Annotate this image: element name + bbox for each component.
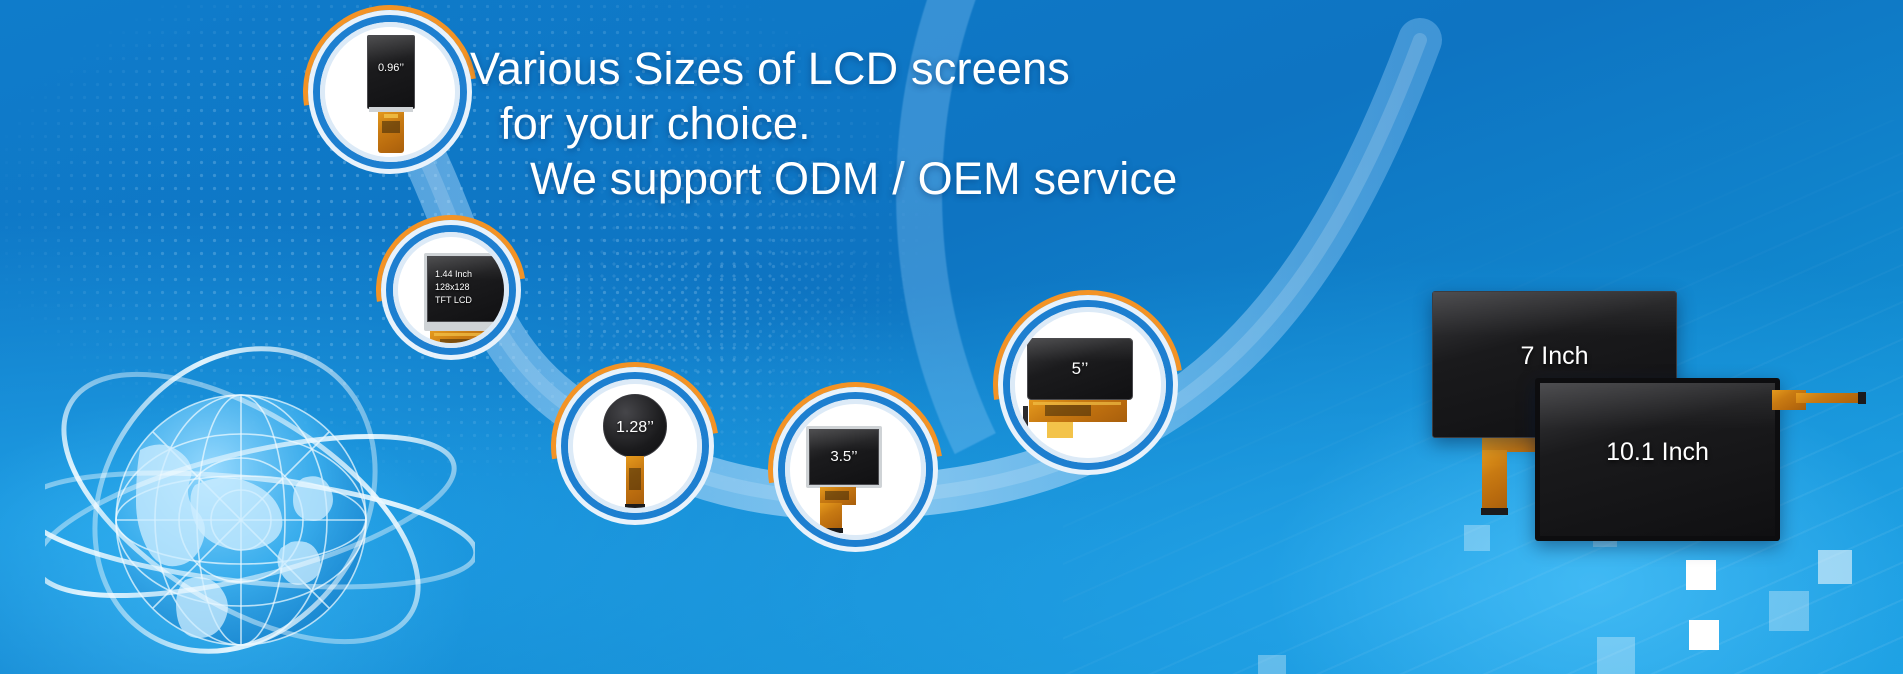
badge-144-face: 1.44 Inch 128x128 TFT LCD xyxy=(398,237,504,343)
module-35-chip xyxy=(825,491,849,500)
badge-35[interactable]: 3.5’’ xyxy=(768,382,943,557)
badge-096-face: 0.96’’ xyxy=(325,27,455,157)
headline-line-2: for your choice. xyxy=(470,97,1200,152)
module-5-contacts xyxy=(1033,402,1121,405)
module-144-contacts xyxy=(434,333,486,336)
panel-101inch-cable-tip xyxy=(1858,392,1866,404)
module-5-touch-tail xyxy=(1023,406,1028,446)
module-096-flex-cable xyxy=(378,112,404,153)
badge-144[interactable]: 1.44 Inch 128x128 TFT LCD xyxy=(376,215,526,365)
decor-square-3 xyxy=(1818,550,1852,584)
module-35-flex-tail xyxy=(820,503,842,531)
decor-square-6 xyxy=(1689,620,1719,650)
module-096: 0.96’’ xyxy=(367,35,415,153)
badge-144-label-line1: 1.44 Inch xyxy=(435,269,504,279)
module-5-flex-tail xyxy=(1047,422,1073,438)
module-5-panel: 5’’ xyxy=(1027,338,1133,400)
module-35-panel: 3.5’’ xyxy=(809,429,879,485)
badge-096-label: 0.96’’ xyxy=(368,62,414,74)
decor-square-2 xyxy=(1686,560,1716,590)
module-144: 1.44 Inch 128x128 TFT LCD xyxy=(424,253,504,343)
panel-101inch-label: 10.1 Inch xyxy=(1540,438,1775,467)
headline-line-1: Various Sizes of LCD screens xyxy=(470,42,1200,97)
decor-square-9 xyxy=(1258,655,1286,674)
module-096-chip xyxy=(382,121,400,133)
module-144-flex-cable xyxy=(430,331,492,343)
badge-096[interactable]: 0.96’’ xyxy=(303,5,477,179)
badge-144-label-line3: TFT LCD xyxy=(435,295,504,305)
module-128-flex-cable xyxy=(626,456,644,506)
module-144-chip xyxy=(440,339,476,343)
panel-101inch-screen: 10.1 Inch xyxy=(1535,378,1780,541)
panel-101inch-flex-tail xyxy=(1796,393,1864,403)
panel-7inch-label: 7 Inch xyxy=(1433,342,1676,371)
module-096-glass-highlight xyxy=(368,36,414,63)
badge-128[interactable]: 1.28’’ xyxy=(551,362,719,530)
globe-network-icon xyxy=(45,330,475,674)
decor-square-7 xyxy=(1464,525,1490,551)
module-128-chip xyxy=(629,468,641,490)
badge-5[interactable]: 5’’ xyxy=(993,290,1183,480)
module-128: 1.28’’ xyxy=(603,394,667,508)
module-35-cable-tip xyxy=(820,528,843,533)
decor-square-8 xyxy=(1597,637,1635,674)
panel-7inch-glass-highlight xyxy=(1433,292,1676,336)
module-5: 5’’ xyxy=(1027,338,1153,448)
lcd-sizes-banner: Various Sizes of LCD screens for your ch… xyxy=(0,0,1903,674)
badge-128-face: 1.28’’ xyxy=(573,384,697,508)
panel-7inch-flex-tail xyxy=(1482,450,1507,512)
headline-line-3: We support ODM / OEM service xyxy=(470,152,1200,207)
panel-101inch[interactable]: 10.1 Inch xyxy=(1535,378,1780,541)
panel-7inch-cable-tip xyxy=(1481,508,1508,515)
headline: Various Sizes of LCD screens for your ch… xyxy=(470,42,1200,207)
badge-35-face: 3.5’’ xyxy=(790,404,921,535)
module-096-panel: 0.96’’ xyxy=(367,35,415,109)
module-128-cable-tip xyxy=(625,504,645,508)
module-096-contacts xyxy=(384,114,398,118)
badge-128-label: 1.28’’ xyxy=(604,419,666,437)
badge-144-label-line2: 128x128 xyxy=(435,282,504,292)
panel-101inch-glass-highlight xyxy=(1540,383,1775,429)
module-35: 3.5’’ xyxy=(806,426,906,532)
module-5-flex-cable xyxy=(1029,400,1127,422)
badge-5-label: 5’’ xyxy=(1028,359,1132,379)
decor-square-4 xyxy=(1769,591,1809,631)
module-144-panel: 1.44 Inch 128x128 TFT LCD xyxy=(427,256,504,322)
module-5-chip xyxy=(1045,405,1091,416)
badge-5-face: 5’’ xyxy=(1015,312,1161,458)
badge-35-label: 3.5’’ xyxy=(810,448,878,465)
module-128-round-panel: 1.28’’ xyxy=(603,394,667,458)
